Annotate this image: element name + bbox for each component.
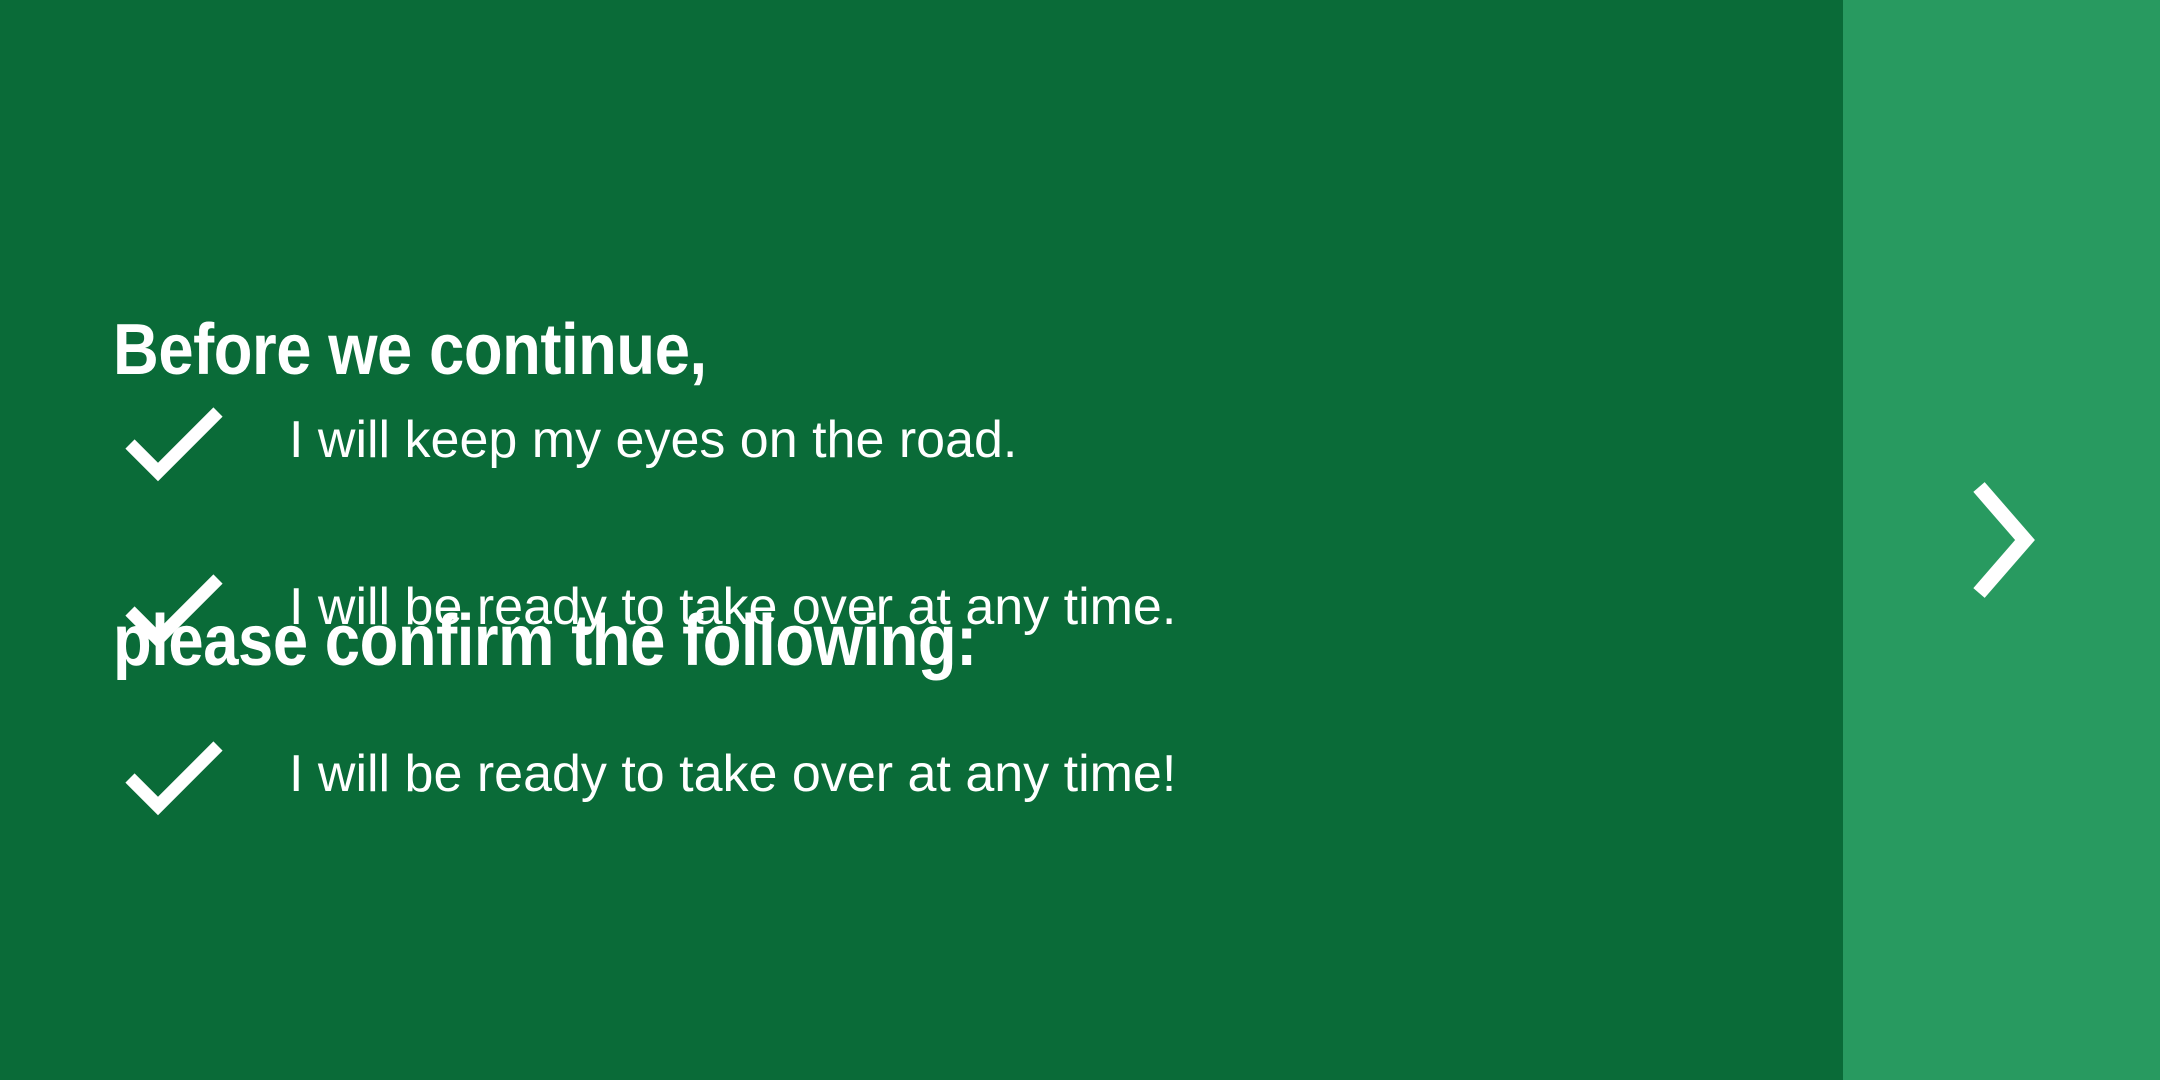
check-icon (124, 726, 224, 826)
confirmation-checklist: I will keep my eyes on the road. I will … (113, 392, 1763, 893)
checklist-item-label: I will be ready to take over at any time… (289, 559, 1176, 655)
checklist-item[interactable]: I will keep my eyes on the road. (113, 392, 1763, 559)
content-panel: Before we continue, please confirm the f… (0, 0, 1843, 1080)
checklist-item[interactable]: I will be ready to take over at any time… (113, 559, 1763, 726)
next-button[interactable] (1843, 0, 2160, 1080)
checklist-item-label: I will keep my eyes on the road. (289, 392, 1017, 488)
checklist-item[interactable]: I will be ready to take over at any time… (113, 726, 1763, 893)
checklist-item-label: I will be ready to take over at any time… (289, 726, 1176, 822)
confirmation-screen: Before we continue, please confirm the f… (0, 0, 2160, 1080)
chevron-right-icon (1963, 475, 2043, 605)
check-icon (124, 392, 224, 492)
page-title-line-1: Before we continue, (113, 302, 1433, 399)
check-icon (124, 559, 224, 659)
